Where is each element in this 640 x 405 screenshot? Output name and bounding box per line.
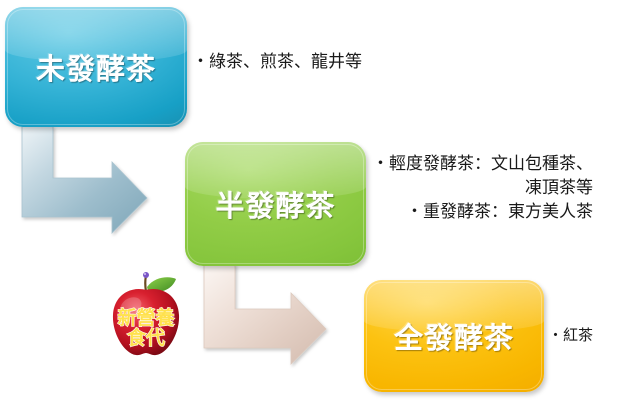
- apple-stem-icon: [145, 276, 146, 292]
- bullet-marker: ‧: [372, 154, 389, 174]
- diagram-canvas: 未發酵茶 半發酵茶 全發酵茶 ‧綠茶、煎茶、龍井等 ‧輕度發酵茶：文山包種茶、 …: [0, 0, 640, 405]
- node-semi-fermented-tea[interactable]: 半發酵茶: [185, 142, 366, 266]
- bullet-text: 紅茶: [563, 326, 593, 344]
- bullets-unfermented-tea: ‧綠茶、煎茶、龍井等: [192, 50, 362, 74]
- bullet-marker: ‧: [192, 52, 209, 72]
- node-fully-fermented-tea[interactable]: 全發酵茶: [364, 280, 544, 392]
- bullets-fully-fermented-tea: ‧紅茶: [548, 325, 593, 346]
- node-semi-fermented-tea-label: 半發酵茶: [215, 183, 335, 225]
- node-unfermented-tea-label: 未發酵茶: [36, 46, 156, 88]
- logo-text-line1: 新營養: [117, 306, 175, 329]
- bullet-marker: ‧: [548, 326, 563, 344]
- apple-stem-bead: [143, 272, 149, 278]
- bullets-semi-fermented-tea: ‧輕度發酵茶：文山包種茶、 凍頂茶等 ‧重發酵茶：東方美人茶: [372, 152, 593, 224]
- bullet-text: 綠茶、煎茶、龍井等: [209, 52, 362, 72]
- logo-apple-xin-ying-yang-shi-dai: 新營養 食代: [106, 270, 186, 358]
- node-unfermented-tea[interactable]: 未發酵茶: [5, 7, 187, 127]
- node-fully-fermented-tea-label: 全發酵茶: [394, 315, 514, 357]
- bullet-text: 輕度發酵茶：文山包種茶、: [389, 154, 593, 174]
- bullet-item: ‧重發酵茶：東方美人茶: [372, 200, 593, 224]
- bullet-item: ‧綠茶、煎茶、龍井等: [192, 50, 362, 74]
- apple-stem-bead-highlight: [144, 273, 146, 275]
- arrow-blue-to-green: [22, 126, 147, 233]
- bullet-item: ‧輕度發酵茶：文山包種茶、: [372, 152, 593, 176]
- bullet-item: ‧紅茶: [548, 325, 593, 346]
- logo-text-line2: 食代: [127, 326, 165, 349]
- bullet-marker: ‧: [406, 202, 423, 222]
- bullet-text: 重發酵茶：東方美人茶: [423, 202, 593, 222]
- bullet-continuation: 凍頂茶等: [372, 176, 593, 200]
- arrow-green-to-orange: [204, 264, 326, 364]
